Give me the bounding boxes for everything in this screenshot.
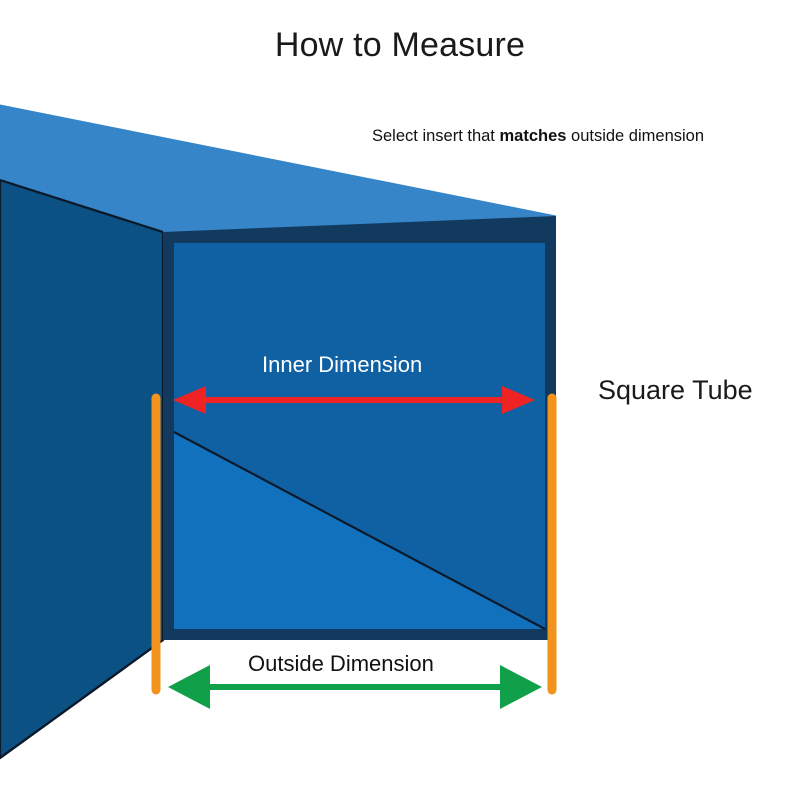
tube-side-face xyxy=(0,180,163,758)
subtitle-emphasis: matches xyxy=(499,127,566,145)
diagram-canvas: How to Measure Select insert that matche… xyxy=(0,0,800,800)
square-tube-label: Square Tube xyxy=(598,375,753,406)
subtitle-before: Select insert that xyxy=(372,127,499,145)
page-title: How to Measure xyxy=(0,26,800,65)
subtitle: Select insert that matches outside dimen… xyxy=(372,127,704,146)
outside-dimension-label: Outside Dimension xyxy=(248,651,434,677)
inner-dimension-label: Inner Dimension xyxy=(262,352,422,378)
subtitle-after: outside dimension xyxy=(566,127,704,145)
